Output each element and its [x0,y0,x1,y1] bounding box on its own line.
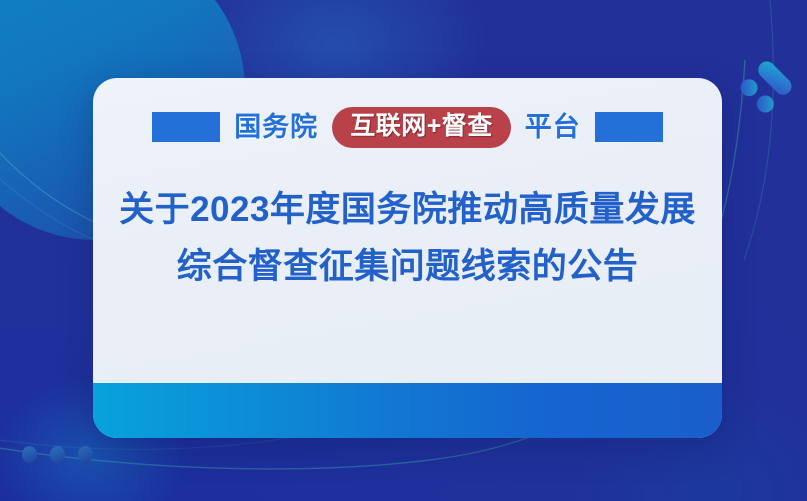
decorative-dot [22,446,37,463]
decorative-dots [22,446,93,463]
brand-bar-left [152,112,220,142]
card-footer-bar [93,383,722,438]
brand-text-left: 国务院 [234,114,318,141]
brand-logo-icon [738,58,794,116]
page-title: 关于2023年度国务院推动高质量发展 综合督查征集问题线索的公告 [119,182,696,295]
card-body: 国务院 互联网+督查 平台 关于2023年度国务院推动高质量发展 综合督查征集问… [93,78,722,383]
decorative-dot [78,446,93,463]
brand-pill-badge: 互联网+督查 [332,107,511,148]
decorative-dot [50,446,65,463]
page-title-line-1: 关于2023年度国务院推动高质量发展 [119,182,696,239]
brand-bar-right [595,112,663,142]
announcement-card: 国务院 互联网+督查 平台 关于2023年度国务院推动高质量发展 综合督查征集问… [93,78,722,438]
brand-header-row: 国务院 互联网+督查 平台 [152,106,663,148]
brand-text-right: 平台 [525,114,581,141]
poster-canvas: 国务院 互联网+督查 平台 关于2023年度国务院推动高质量发展 综合督查征集问… [0,0,807,501]
page-title-line-2: 综合督查征集问题线索的公告 [119,239,696,296]
